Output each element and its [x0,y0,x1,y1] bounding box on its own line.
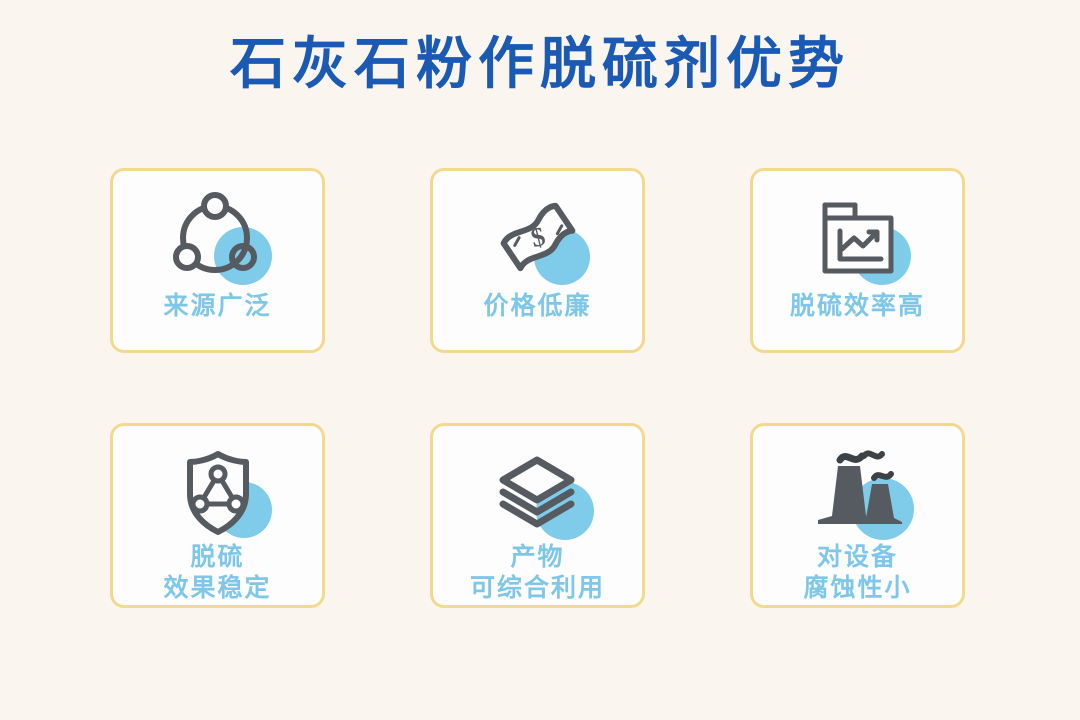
card-source-wide[interactable]: 来源广泛 [110,168,325,353]
folder-chart-icon [811,191,905,283]
card-high-efficiency[interactable]: 脱硫效率高 [750,168,965,353]
card-low-price[interactable]: $ 价格低廉 [430,168,645,353]
card-byproduct-reuse[interactable]: 产物 可综合利用 [430,423,645,608]
icon-container [158,442,278,542]
share-network-icon [170,191,266,283]
advantages-grid: 来源广泛 $ 价格低廉 [110,168,970,608]
icon-container [478,442,598,542]
card-low-corrosion[interactable]: 对设备 腐蚀性小 [750,423,965,608]
icon-container [798,187,918,287]
layers-stack-icon [489,448,587,536]
page-title: 石灰石粉作脱硫剂优势 [0,36,1080,92]
card-label: 脱硫 效果稳定 [163,542,271,603]
banknote-dollar-icon: $ [490,189,586,285]
cooling-towers-icon [806,444,910,540]
icon-container: $ [478,187,598,287]
icon-container [158,187,278,287]
card-label: 价格低廉 [483,291,591,322]
card-label: 脱硫效率高 [790,291,925,322]
card-label: 来源广泛 [163,291,271,322]
card-label: 产物 可综合利用 [470,542,605,603]
card-label: 对设备 腐蚀性小 [803,542,911,603]
card-stable-effect[interactable]: 脱硫 效果稳定 [110,423,325,608]
shield-network-icon [172,446,264,538]
icon-container [798,442,918,542]
